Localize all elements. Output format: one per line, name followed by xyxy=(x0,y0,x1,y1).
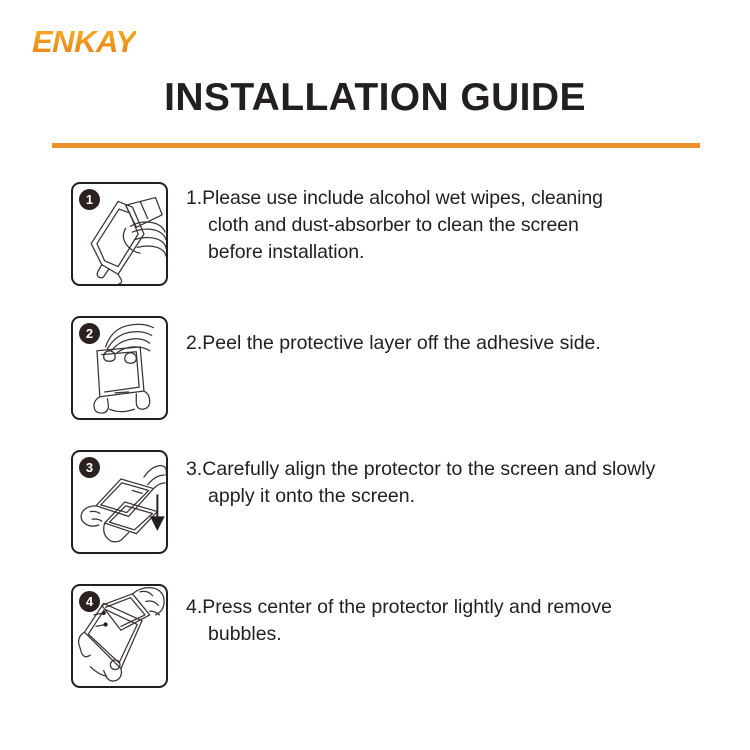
step-item: 1 1.Please use include alcohol wet wipes… xyxy=(0,178,750,298)
step-text-body: 3.Carefully align the protector to the s… xyxy=(186,456,706,510)
step-badge: 1 xyxy=(79,189,100,210)
step-badge: 2 xyxy=(79,323,100,344)
step-item: 2 2.Peel the protective layer off the ad… xyxy=(0,312,750,432)
press-out-bubbles-illustration: 4 xyxy=(71,584,168,688)
step-badge: 3 xyxy=(79,457,100,478)
step-text: 4.Press center of the protector lightly … xyxy=(186,594,686,648)
step-text-body: 1.Please use include alcohol wet wipes, … xyxy=(186,185,638,266)
peel-protective-layer-illustration: 2 xyxy=(71,316,168,420)
down-arrow-icon xyxy=(152,494,164,529)
step-badge: 4 xyxy=(79,591,100,612)
step-text-body: 4.Press center of the protector lightly … xyxy=(186,594,686,648)
brand-logo: ENKAY xyxy=(32,24,232,60)
brand-logo-text: ENKAY xyxy=(32,24,136,60)
step-text-body: 2.Peel the protective layer off the adhe… xyxy=(186,330,706,357)
step-text: 1.Please use include alcohol wet wipes, … xyxy=(186,185,638,266)
step-item: 4 4.Press center of the protector lightl… xyxy=(0,580,750,700)
page-title: INSTALLATION GUIDE xyxy=(0,76,750,120)
title-divider xyxy=(52,143,700,148)
step-text: 2.Peel the protective layer off the adhe… xyxy=(186,330,706,357)
wipe-phone-screen-illustration: 1 xyxy=(71,182,168,286)
step-item: 3 3.Carefully align the protector to the… xyxy=(0,446,750,566)
align-protector-illustration: 3 xyxy=(71,450,168,554)
step-text: 3.Carefully align the protector to the s… xyxy=(186,456,706,510)
installation-guide-page: { "brand": { "name": "ENKAY", "color_sta… xyxy=(0,0,750,750)
